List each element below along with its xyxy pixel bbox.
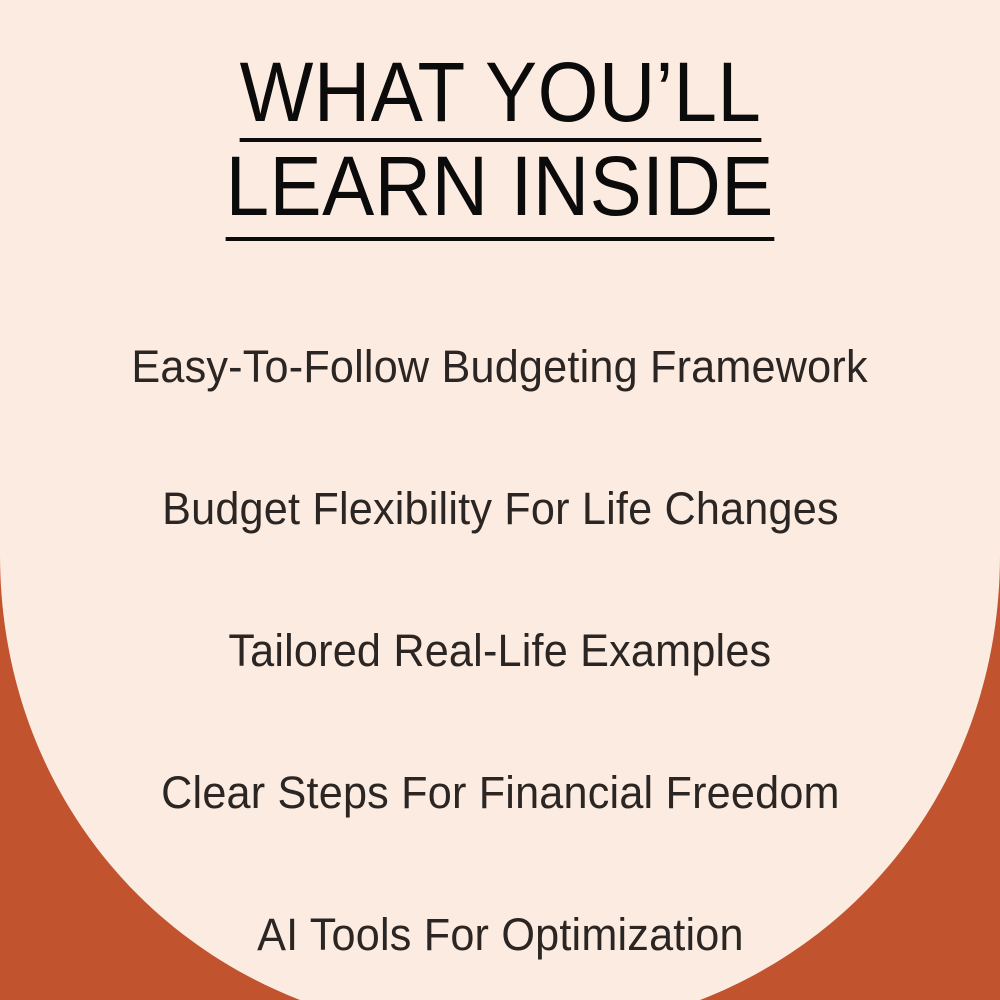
- list-item: Clear Steps For Financial Freedom: [0, 722, 1000, 864]
- title-line-2-wrap: LEARN INSIDE: [0, 142, 1000, 240]
- title-line-2: LEARN INSIDE: [226, 146, 774, 240]
- poster-content: WHAT YOU’LL LEARN INSIDE Easy-To-Follow …: [0, 0, 1000, 1000]
- list-item: Tailored Real-Life Examples: [0, 580, 1000, 722]
- list-item: AI Tools For Optimization: [0, 864, 1000, 1000]
- list-item-label-4: Clear Steps For Financial Freedom: [161, 768, 840, 818]
- title-line-1-wrap: WHAT YOU’LL: [0, 52, 1000, 142]
- benefits-list: Easy-To-Follow Budgeting Framework Budge…: [0, 296, 1000, 1000]
- list-item-label-3: Tailored Real-Life Examples: [228, 626, 771, 676]
- list-item: Easy-To-Follow Budgeting Framework: [0, 296, 1000, 438]
- page-title: WHAT YOU’LL LEARN INSIDE: [0, 52, 1000, 241]
- list-item: Budget Flexibility For Life Changes: [0, 438, 1000, 580]
- title-line-1: WHAT YOU’LL: [239, 52, 761, 142]
- poster-canvas: WHAT YOU’LL LEARN INSIDE Easy-To-Follow …: [0, 0, 1000, 1000]
- list-item-label-2: Budget Flexibility For Life Changes: [162, 484, 839, 534]
- list-item-label-5: AI Tools For Optimization: [257, 910, 744, 960]
- list-item-label-1: Easy-To-Follow Budgeting Framework: [132, 342, 868, 392]
